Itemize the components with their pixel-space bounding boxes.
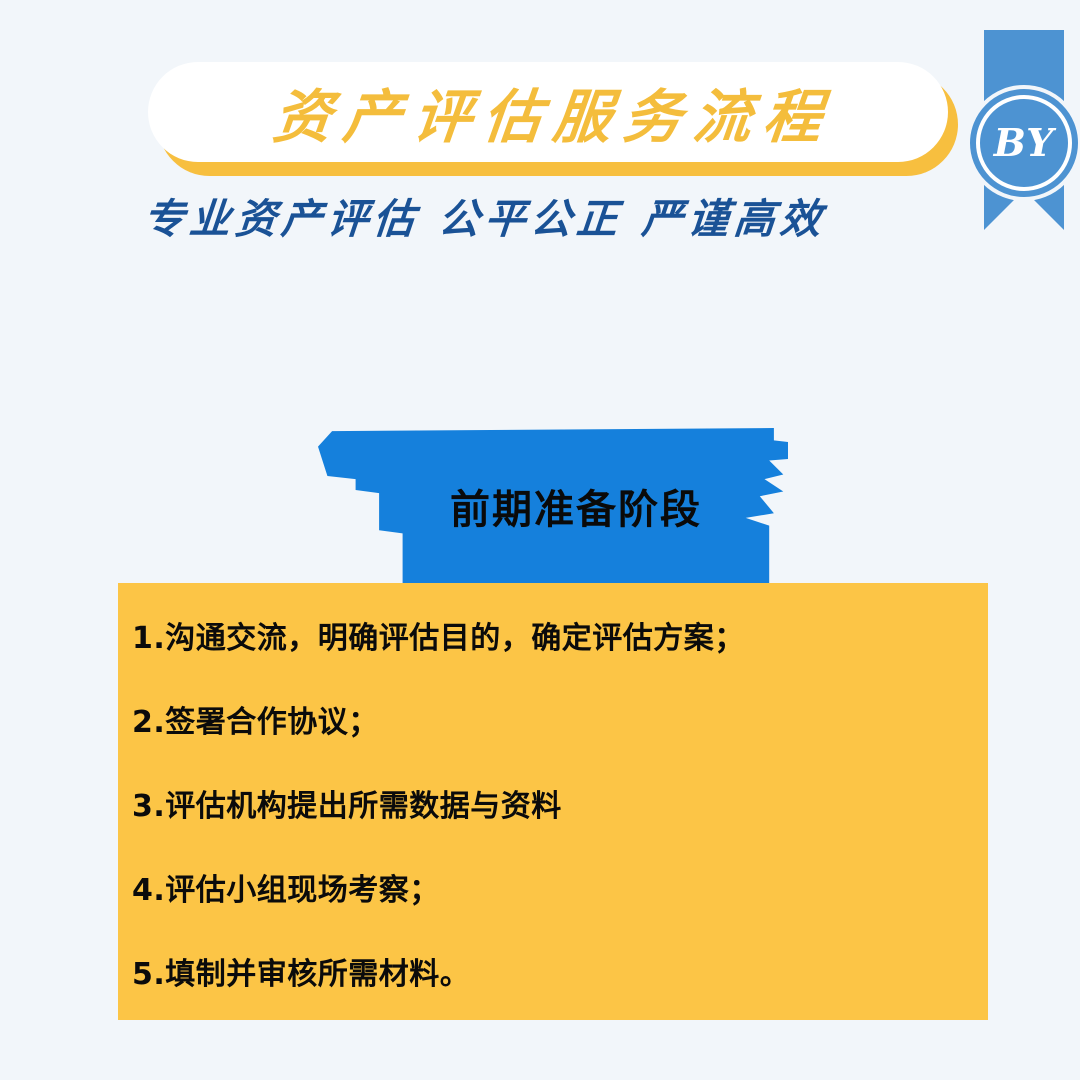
page-title: 资产评估服务流程: [258, 70, 839, 154]
badge-circle: BY: [966, 85, 1080, 201]
list-item: 5.填制并审核所需材料。: [132, 957, 988, 993]
title-banner: 资产评估服务流程: [148, 62, 948, 167]
list-item: 1.沟通交流，明确评估目的，确定评估方案；: [132, 621, 988, 657]
list-item: 4.评估小组现场考察；: [132, 873, 988, 909]
list-item: 2.签署合作协议；: [132, 705, 988, 741]
stage-title: 前期准备阶段: [318, 428, 788, 583]
header: 资产评估服务流程 专业资产评估 公平公正 严谨高效 BY: [0, 0, 1080, 270]
ribbon-badge: BY: [984, 30, 1064, 230]
step-list: 1.沟通交流，明确评估目的，确定评估方案； 2.签署合作协议； 3.评估机构提出…: [132, 621, 988, 993]
badge-label: BY: [994, 124, 1055, 162]
poster-canvas: 资产评估服务流程 专业资产评估 公平公正 严谨高效 BY 前期准备阶段 1.沟通…: [0, 0, 1080, 1080]
list-item: 3.评估机构提出所需数据与资料: [132, 789, 988, 825]
page-subtitle: 专业资产评估 公平公正 严谨高效: [0, 185, 1080, 245]
content-card: 1.沟通交流，明确评估目的，确定评估方案； 2.签署合作协议； 3.评估机构提出…: [118, 583, 988, 1020]
title-pill: 资产评估服务流程: [148, 62, 948, 162]
